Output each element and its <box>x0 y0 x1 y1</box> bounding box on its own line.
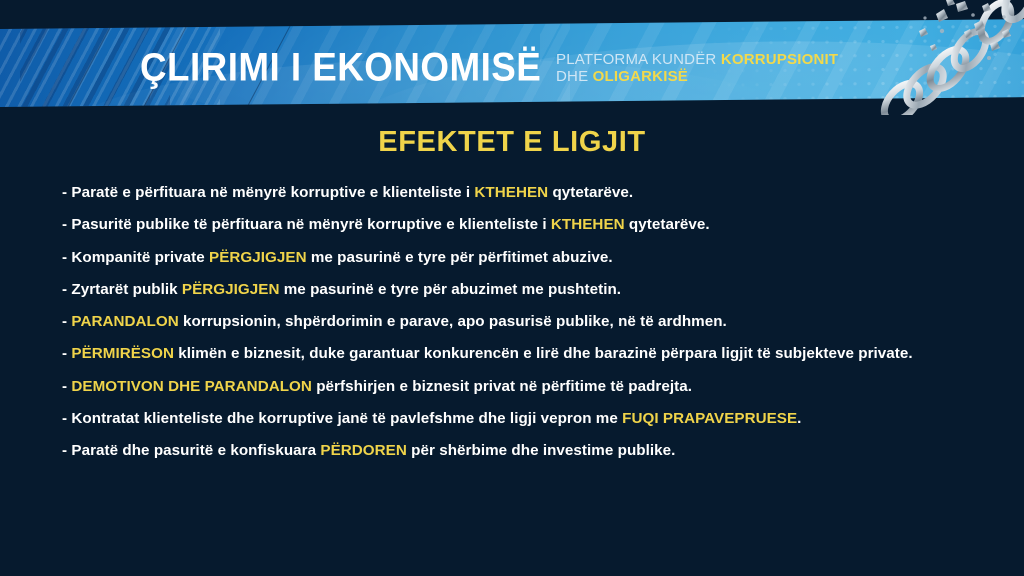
list-item: - PËRMIRËSON klimën e biznesit, duke gar… <box>62 338 1002 370</box>
header-banner: ÇLIRIMI I EKONOMISË PLATFORMA KUNDËR KOR… <box>0 0 1024 115</box>
list-item: - DEMOTIVON DHE PARANDALON përfshirjen e… <box>62 371 1002 403</box>
list-item: - Paratë e përfituara në mënyrë korrupti… <box>62 177 1002 209</box>
list-item-dash: - <box>62 442 71 459</box>
list-item-text: Zyrtarët publik <box>71 281 182 298</box>
list-item-text: klimën e biznesit, duke garantuar konkur… <box>174 345 913 362</box>
list-item-text: qytetarëve. <box>548 184 633 201</box>
banner-text-block: ÇLIRIMI I EKONOMISË PLATFORMA KUNDËR KOR… <box>0 29 1024 107</box>
list-item-dash: - <box>62 410 71 427</box>
list-item-highlight: PARANDALON <box>71 313 178 330</box>
page-title: EFEKTET E LIGJIT <box>0 126 1024 159</box>
list-item: - Kontratat klienteliste dhe korruptive … <box>62 403 1002 435</box>
list-item: - Zyrtarët publik PËRGJIGJEN me pasurinë… <box>62 274 1002 306</box>
list-item: - Paratë dhe pasuritë e konfiskuara PËRD… <box>62 435 1002 467</box>
list-item-highlight: KTHEHEN <box>551 216 625 233</box>
banner-subtitle-line-1: PLATFORMA KUNDËR KORRUPSIONIT <box>556 51 838 68</box>
list-item-text: me pasurinë e tyre për përfitimet abuziv… <box>307 249 613 266</box>
list-item-text: korrupsionin, shpërdorimin e parave, apo… <box>179 313 727 330</box>
list-item-text: Pasuritë publike të përfituara në mënyrë… <box>71 216 551 233</box>
list-item-highlight: PËRGJIGJEN <box>209 249 307 266</box>
effects-list: - Paratë e përfituara në mënyrë korrupti… <box>62 177 1002 468</box>
list-item-dash: - <box>62 345 71 362</box>
list-item-text: përfshirjen e biznesit privat në përfiti… <box>312 378 692 395</box>
list-item-text: qytetarëve. <box>625 216 710 233</box>
banner-title: ÇLIRIMI I EKONOMISË <box>140 46 576 91</box>
list-item-text: Paratë dhe pasuritë e konfiskuara <box>71 442 320 459</box>
banner-subtitle-plain-1: PLATFORMA KUNDËR <box>556 51 721 68</box>
list-item-dash: - <box>62 378 71 395</box>
banner-subtitle: PLATFORMA KUNDËR KORRUPSIONIT DHE OLIGAR… <box>556 51 838 85</box>
banner-subtitle-highlight-1: KORRUPSIONIT <box>721 51 838 68</box>
list-item-dash: - <box>62 249 71 266</box>
banner-subtitle-line-2: DHE OLIGARKISË <box>556 68 838 85</box>
list-item-dash: - <box>62 281 71 298</box>
list-item-highlight: DEMOTIVON DHE PARANDALON <box>71 378 312 395</box>
list-item: - PARANDALON korrupsionin, shpërdorimin … <box>62 306 1002 338</box>
list-item-dash: - <box>62 184 71 201</box>
list-item-highlight: PËRMIRËSON <box>71 345 174 362</box>
list-item-text: Kompanitë private <box>71 249 209 266</box>
list-item-text: Kontratat klienteliste dhe korruptive ja… <box>71 410 622 427</box>
list-item-text: për shërbime dhe investime publike. <box>407 442 676 459</box>
list-item: - Kompanitë private PËRGJIGJEN me pasuri… <box>62 242 1002 274</box>
banner-subtitle-highlight-2: OLIGARKISË <box>593 68 688 85</box>
slide-root: ÇLIRIMI I EKONOMISË PLATFORMA KUNDËR KOR… <box>0 0 1024 576</box>
list-item-highlight: KTHEHEN <box>474 184 548 201</box>
list-item-highlight: FUQI PRAPAVEPRUESE <box>622 410 797 427</box>
list-item-text: me pasurinë e tyre për abuzimet me pusht… <box>279 281 621 298</box>
banner-subtitle-plain-2: DHE <box>556 68 593 85</box>
list-item-highlight: PËRDOREN <box>320 442 406 459</box>
list-item-text: Paratë e përfituara në mënyrë korruptive… <box>71 184 474 201</box>
list-item-text: . <box>797 410 801 427</box>
list-item-dash: - <box>62 313 71 330</box>
list-item: - Pasuritë publike të përfituara në mëny… <box>62 209 1002 241</box>
banner-title-text: ÇLIRIMI I EKONOMISË <box>140 46 541 91</box>
list-item-highlight: PËRGJIGJEN <box>182 281 280 298</box>
list-item-dash: - <box>62 216 71 233</box>
